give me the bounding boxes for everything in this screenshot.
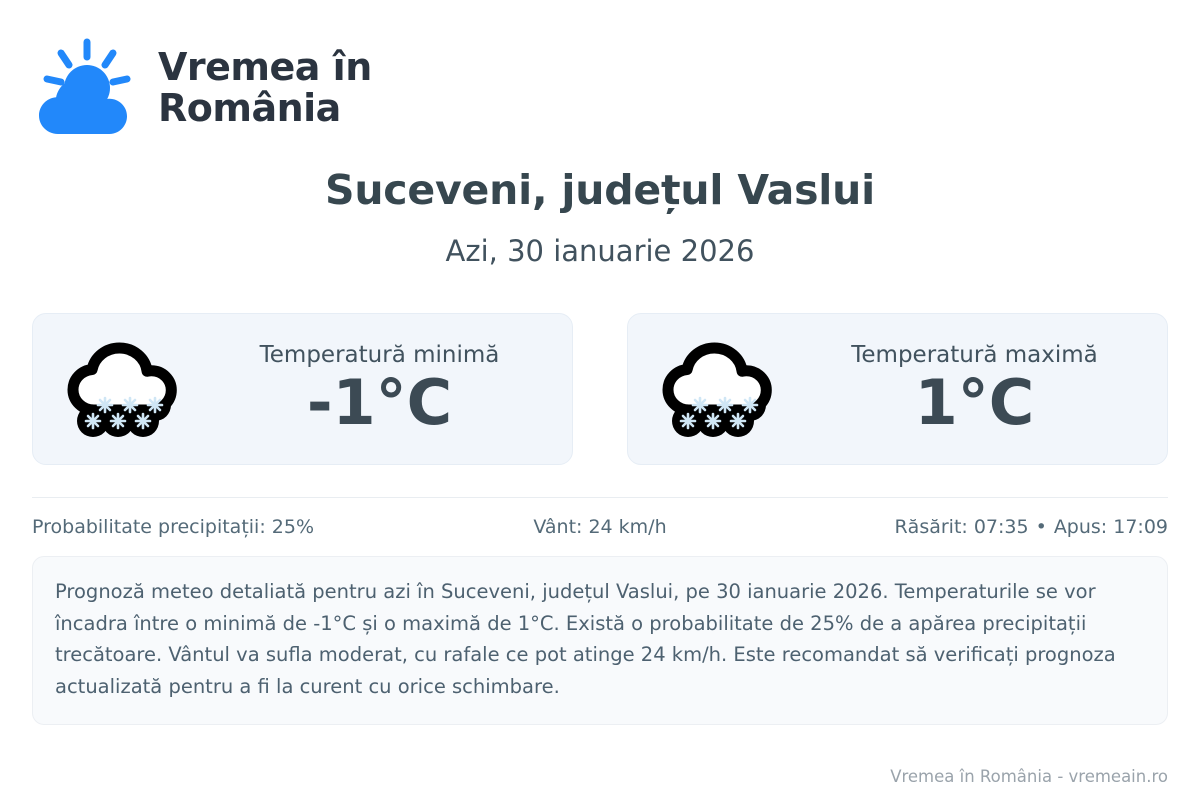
site-brand[interactable]: Vremea în România	[32, 0, 1168, 130]
snow-cloud-icon	[61, 335, 185, 443]
max-temperature-card: Temperatură maximă 1°C	[627, 313, 1168, 465]
min-temperature-label: Temperatură minimă	[260, 342, 500, 368]
weather-page: Vremea în România Suceveni, județul Vasl…	[0, 0, 1200, 800]
forecast-description: Prognoză meteo detaliată pentru azi în S…	[32, 556, 1168, 725]
sun-cloud-icon	[32, 38, 140, 138]
snow-cloud-icon	[656, 335, 780, 443]
max-temperature-value: 1°C	[915, 370, 1035, 435]
brand-name: Vremea în România	[158, 47, 372, 128]
weather-stats-row: Probabilitate precipitații: 25% Vânt: 24…	[32, 497, 1168, 538]
min-temperature-value: -1°C	[307, 370, 452, 435]
max-temperature-label: Temperatură maximă	[851, 342, 1097, 368]
max-temperature-text: Temperatură maximă 1°C	[798, 342, 1151, 435]
footer-credit: Vremea în România - vremeain.ro	[890, 767, 1168, 786]
wind-stat: Vânt: 24 km/h	[411, 516, 790, 538]
precipitation-stat: Probabilitate precipitații: 25%	[32, 516, 411, 538]
min-temperature-text: Temperatură minimă -1°C	[203, 342, 556, 435]
sunrise-value: Răsărit: 07:35	[894, 516, 1028, 538]
sun-separator: •	[1029, 516, 1054, 538]
temperature-cards: Temperatură minimă -1°C	[32, 313, 1168, 465]
sunset-value: Apus: 17:09	[1054, 516, 1168, 538]
min-temperature-card: Temperatură minimă -1°C	[32, 313, 573, 465]
sun-times-stat: Răsărit: 07:35•Apus: 17:09	[789, 516, 1168, 538]
page-title: Suceveni, județul Vaslui	[32, 166, 1168, 214]
date-subtitle: Azi, 30 ianuarie 2026	[32, 234, 1168, 268]
